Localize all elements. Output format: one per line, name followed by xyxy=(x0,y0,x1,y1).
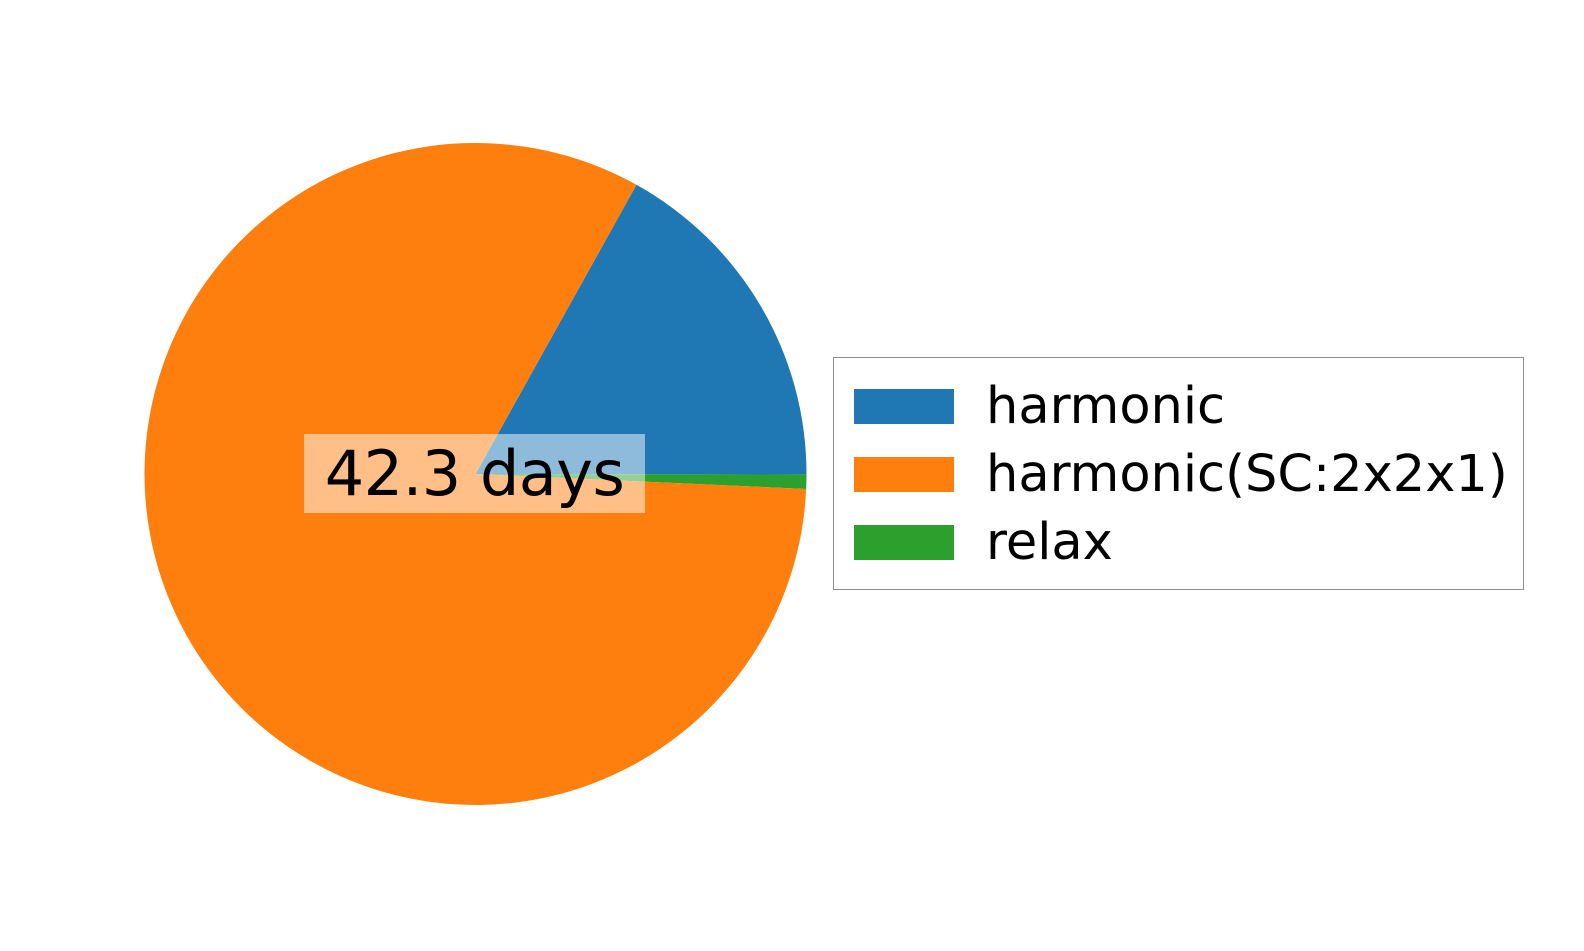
legend-label-harmonic: harmonic xyxy=(986,381,1225,432)
pie-chart xyxy=(144,143,807,805)
legend-swatch-icon-harmonic-sc-2x2x1 xyxy=(854,457,954,492)
legend-swatch-icon-relax xyxy=(854,525,954,560)
legend-items: harmonic harmonic(SC:2x2x1) relax xyxy=(854,372,1517,583)
pie-slices xyxy=(145,143,807,805)
legend-item-relax[interactable]: relax xyxy=(854,508,1517,576)
pie-svg xyxy=(144,143,807,805)
legend-item-harmonic[interactable]: harmonic xyxy=(854,372,1517,440)
legend-swatch-icon-harmonic xyxy=(854,389,954,424)
figure-canvas: 42.3 days harmonic harmonic(SC:2x2x1) re… xyxy=(0,0,1584,951)
legend-label-relax: relax xyxy=(986,517,1113,568)
legend-label-harmonic-sc-2x2x1: harmonic(SC:2x2x1) xyxy=(986,449,1508,500)
legend-item-harmonic-sc-2x2x1[interactable]: harmonic(SC:2x2x1) xyxy=(854,440,1517,508)
legend-box: harmonic harmonic(SC:2x2x1) relax xyxy=(833,357,1524,590)
